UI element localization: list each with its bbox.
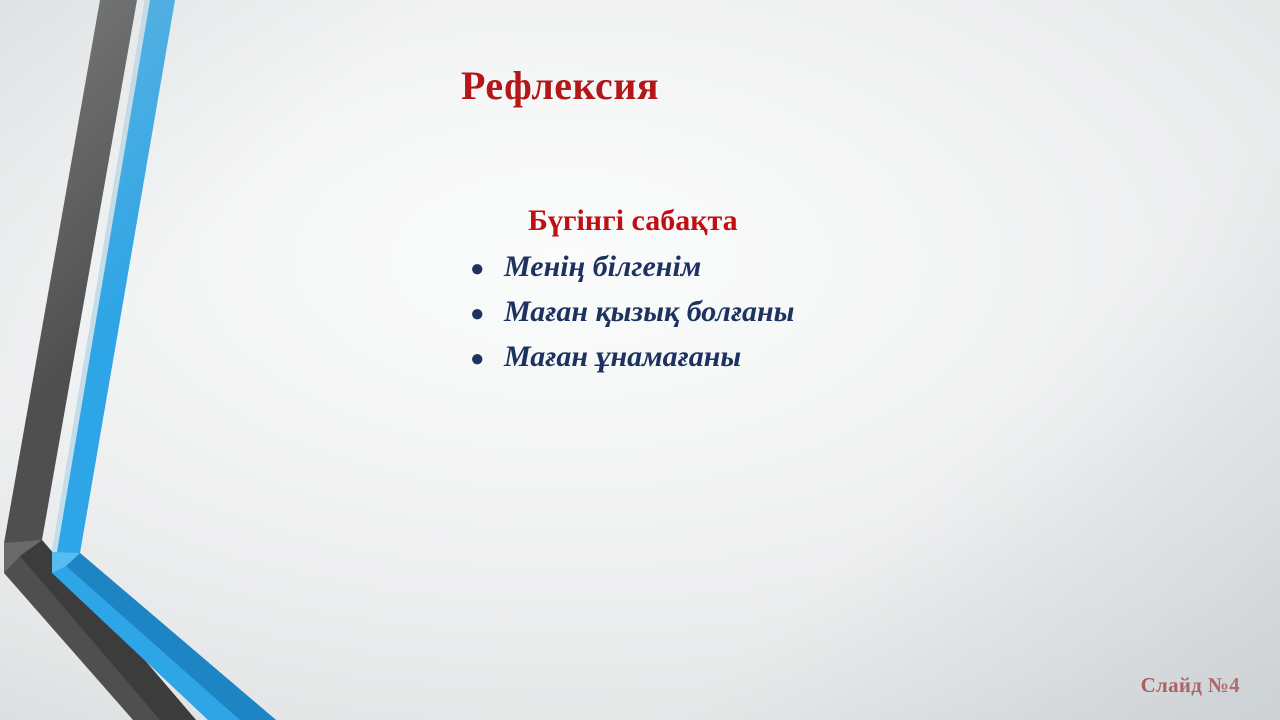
gray-chevron-fold-highlight [4, 540, 42, 573]
list-item-label: Менің білгенім [504, 250, 701, 284]
bullet-list: ● Менің білгенім ● Маған қызық болғаны ●… [470, 250, 795, 385]
gray-chevron-shadow [20, 540, 196, 720]
list-item-label: Маған қызық болғаны [504, 295, 795, 329]
bullet-dot-icon: ● [470, 347, 504, 371]
page-title: Рефлексия [0, 62, 1280, 109]
list-item: ● Маған ұнамағаны [470, 340, 795, 385]
blue-chevron-shadow [66, 553, 276, 720]
blue-chevron-fold-highlight [52, 552, 80, 573]
presentation-slide: Рефлексия Бүгінгі сабақта ● Менің білген… [0, 0, 1280, 720]
bullet-dot-icon: ● [470, 302, 504, 326]
list-item: ● Маған қызық болғаны [470, 295, 795, 340]
slide-number-label: Слайд №4 [1141, 673, 1240, 698]
list-item: ● Менің білгенім [470, 250, 795, 295]
list-item-label: Маған ұнамағаны [504, 340, 741, 374]
subtitle-heading: Бүгінгі сабақта [528, 204, 738, 238]
bullet-dot-icon: ● [470, 257, 504, 281]
